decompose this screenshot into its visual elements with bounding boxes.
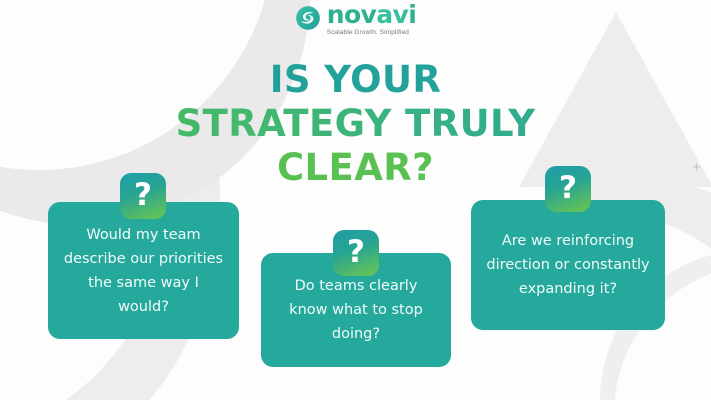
brand-name-part2: av [376,0,408,29]
page-title: IS YOUR STRATEGY TRULY CLEAR? [0,58,711,190]
brand-name-part1: nov [327,0,376,29]
headline-line-3: CLEAR? [0,146,711,190]
question-mark-icon: ? [134,180,152,211]
headline-line-1: IS YOUR [0,58,711,102]
poster-canvas: + novavi Scalable Growth. Simplified [0,0,711,400]
question-card-3-text: Are we reinforcing direction or constant… [471,229,665,301]
question-card-3: Are we reinforcing direction or constant… [471,200,665,330]
question-mark-icon: ? [347,237,365,268]
question-card-1-text: Would my team describe our priorities th… [48,223,239,319]
question-card-1: Would my team describe our priorities th… [48,202,239,339]
question-mark-badge-2: ? [333,230,379,276]
question-mark-badge-3: ? [545,166,591,212]
question-mark-icon: ? [559,173,577,204]
brand-logo-text: novavi Scalable Growth. Simplified [327,4,416,36]
swirl-leaf-icon [295,5,321,31]
question-card-2-text: Do teams clearly know what to stop doing… [261,274,451,346]
brand-logo: novavi Scalable Growth. Simplified [0,4,711,36]
brand-name: novavi [327,4,416,26]
brand-tagline: Scalable Growth. Simplified [327,29,409,36]
brand-name-part3: i [408,0,416,29]
headline-line-2: STRATEGY TRULY [0,102,711,146]
question-mark-badge-1: ? [120,173,166,219]
